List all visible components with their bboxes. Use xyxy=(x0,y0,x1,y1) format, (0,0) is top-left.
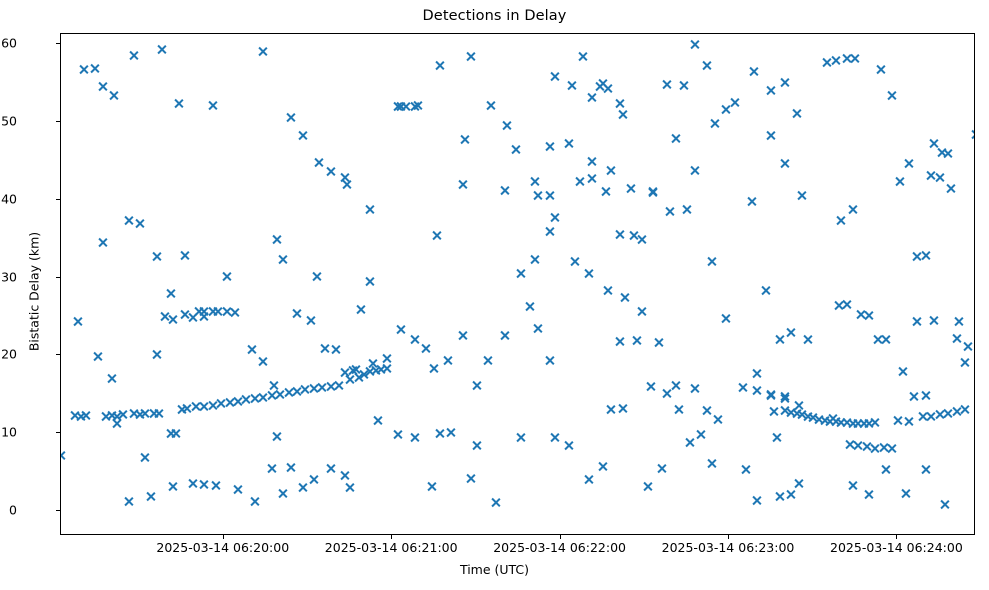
x-tick-mark xyxy=(728,535,729,539)
scatter-point xyxy=(954,316,965,327)
scatter-point xyxy=(173,98,184,109)
scatter-point xyxy=(670,133,681,144)
scatter-point xyxy=(221,306,232,317)
scatter-point xyxy=(297,130,308,141)
scatter-point xyxy=(409,101,420,112)
scatter-point xyxy=(286,462,297,473)
scatter-point xyxy=(168,314,179,325)
scatter-point xyxy=(92,351,103,362)
chart-title: Detections in Delay xyxy=(0,8,989,24)
scatter-point xyxy=(533,323,544,334)
scatter-point xyxy=(721,313,732,324)
scatter-point xyxy=(516,268,527,279)
scatter-point xyxy=(684,437,695,448)
scatter-point xyxy=(850,53,861,64)
scatter-point xyxy=(81,410,92,421)
scatter-point xyxy=(886,90,897,101)
scatter-point xyxy=(491,497,502,508)
scatter-point xyxy=(401,101,412,112)
scatter-point xyxy=(662,79,673,90)
scatter-point xyxy=(600,186,611,197)
scatter-point xyxy=(193,306,204,317)
scatter-point xyxy=(898,366,909,377)
scatter-point xyxy=(895,176,906,187)
scatter-point xyxy=(471,380,482,391)
scatter-point xyxy=(128,50,139,61)
y-tick-mark xyxy=(56,510,60,511)
x-tick-label: 2025-03-14 06:23:00 xyxy=(662,540,795,555)
scatter-point xyxy=(774,334,785,345)
x-tick-label: 2025-03-14 06:22:00 xyxy=(493,540,626,555)
scatter-point xyxy=(549,432,560,443)
scatter-point xyxy=(325,166,336,177)
scatter-point xyxy=(331,344,342,355)
scatter-point xyxy=(342,179,353,190)
scatter-point xyxy=(179,309,190,320)
scatter-point xyxy=(642,481,653,492)
scatter-point xyxy=(864,418,875,429)
scatter-point xyxy=(833,300,844,311)
scatter-point xyxy=(796,409,807,420)
scatter-point xyxy=(134,409,145,420)
scatter-point xyxy=(909,391,920,402)
scatter-point xyxy=(841,53,852,64)
scatter-point xyxy=(785,489,796,500)
scatter-point xyxy=(847,418,858,429)
scatter-point xyxy=(912,316,923,327)
scatter-point xyxy=(199,311,210,322)
scatter-point xyxy=(117,409,128,420)
scatter-point xyxy=(881,464,892,475)
scatter-point xyxy=(841,299,852,310)
scatter-point xyxy=(429,363,440,374)
scatter-point xyxy=(665,206,676,217)
scatter-point xyxy=(709,118,720,129)
y-tick-mark xyxy=(56,432,60,433)
scatter-point xyxy=(179,250,190,261)
scatter-point xyxy=(583,474,594,485)
scatter-point xyxy=(266,463,277,474)
scatter-point xyxy=(100,411,111,422)
scatter-point xyxy=(878,442,889,453)
scatter-point xyxy=(373,415,384,426)
scatter-point xyxy=(72,316,83,327)
scatter-point xyxy=(171,428,182,439)
scatter-point xyxy=(903,158,914,169)
scatter-point xyxy=(112,411,123,422)
scatter-point xyxy=(165,288,176,299)
scatter-point xyxy=(533,190,544,201)
scatter-point xyxy=(808,412,819,423)
scatter-point xyxy=(409,432,420,443)
scatter-point xyxy=(364,276,375,287)
scatter-point xyxy=(544,355,555,366)
scatter-point xyxy=(606,404,617,415)
scatter-point xyxy=(176,404,187,415)
scatter-point xyxy=(637,306,648,317)
scatter-point xyxy=(903,416,914,427)
scatter-point xyxy=(246,344,257,355)
scatter-point xyxy=(836,417,847,428)
scatter-point xyxy=(207,100,218,111)
x-tick-mark xyxy=(391,535,392,539)
scatter-point xyxy=(199,479,210,490)
scatter-point xyxy=(920,250,931,261)
scatter-point xyxy=(266,390,277,401)
scatter-point xyxy=(785,407,796,418)
scatter-point xyxy=(662,388,673,399)
scatter-point xyxy=(291,308,302,319)
scatter-point xyxy=(157,44,168,55)
scatter-point xyxy=(631,335,642,346)
scatter-point xyxy=(151,349,162,360)
y-tick-mark xyxy=(56,121,60,122)
scatter-point xyxy=(673,404,684,415)
scatter-point xyxy=(485,100,496,111)
scatter-point xyxy=(482,355,493,366)
scatter-point xyxy=(510,144,521,155)
scatter-point xyxy=(594,81,605,92)
scatter-point xyxy=(827,413,838,424)
scatter-point xyxy=(951,406,962,417)
scatter-point xyxy=(830,416,841,427)
scatter-point xyxy=(106,373,117,384)
scatter-point xyxy=(912,251,923,262)
scatter-point xyxy=(123,496,134,507)
scatter-point xyxy=(345,482,356,493)
scatter-point xyxy=(272,431,283,442)
scatter-point xyxy=(544,190,555,201)
y-tick-label: 30 xyxy=(1,269,17,284)
scatter-series-layer xyxy=(61,34,974,534)
scatter-point xyxy=(785,327,796,338)
scatter-point xyxy=(446,427,457,438)
scatter-point xyxy=(187,478,198,489)
scatter-point xyxy=(434,60,445,71)
scatter-point xyxy=(339,367,350,378)
scatter-point xyxy=(98,237,109,248)
scatter-point xyxy=(942,408,953,419)
y-tick-mark xyxy=(56,277,60,278)
scatter-point xyxy=(311,271,322,282)
scatter-point xyxy=(648,187,659,198)
scatter-point xyxy=(210,480,221,491)
scatter-point xyxy=(959,357,970,368)
matplotlib-figure: Detections in Delay 0102030405060 2025-0… xyxy=(0,0,989,590)
scatter-point xyxy=(148,408,159,419)
scatter-point xyxy=(822,57,833,68)
scatter-point xyxy=(420,343,431,354)
scatter-point xyxy=(381,363,392,374)
scatter-point xyxy=(333,380,344,391)
scatter-point xyxy=(215,398,226,409)
scatter-point xyxy=(701,405,712,416)
y-axis-label: Bistatic Delay (km) xyxy=(27,142,42,442)
scatter-point xyxy=(690,383,701,394)
scatter-point xyxy=(277,254,288,265)
scatter-point xyxy=(853,440,864,451)
scatter-point xyxy=(207,400,218,411)
scatter-point xyxy=(780,77,791,88)
scatter-point xyxy=(586,92,597,103)
y-tick-mark xyxy=(56,354,60,355)
scatter-point xyxy=(241,394,252,405)
scatter-point xyxy=(670,380,681,391)
scatter-point xyxy=(855,309,866,320)
scatter-point xyxy=(412,100,423,111)
scatter-point xyxy=(656,463,667,474)
scatter-point xyxy=(940,499,951,510)
scatter-point xyxy=(749,66,760,77)
scatter-point xyxy=(286,112,297,123)
scatter-point xyxy=(836,215,847,226)
scatter-point xyxy=(830,55,841,66)
scatter-point xyxy=(695,429,706,440)
scatter-point xyxy=(951,333,962,344)
scatter-point xyxy=(875,64,886,75)
scatter-point xyxy=(232,484,243,495)
scatter-point xyxy=(707,256,718,267)
y-tick-mark xyxy=(56,199,60,200)
scatter-point xyxy=(434,428,445,439)
scatter-point xyxy=(123,215,134,226)
x-tick-mark xyxy=(896,535,897,539)
scatter-point xyxy=(900,488,911,499)
scatter-point xyxy=(766,85,777,96)
scatter-point xyxy=(409,334,420,345)
scatter-point xyxy=(347,365,358,376)
scatter-point xyxy=(760,285,771,296)
scatter-point xyxy=(864,310,875,321)
scatter-point xyxy=(353,372,364,383)
y-tick-label: 20 xyxy=(1,347,17,362)
scatter-point xyxy=(159,311,170,322)
scatter-point xyxy=(460,134,471,145)
y-tick-label: 0 xyxy=(9,503,17,518)
scatter-point xyxy=(597,78,608,89)
scatter-point xyxy=(740,464,751,475)
scatter-point xyxy=(614,98,625,109)
y-tick-label: 60 xyxy=(1,36,17,51)
scatter-point xyxy=(364,204,375,215)
scatter-point xyxy=(471,440,482,451)
scatter-point xyxy=(140,452,151,463)
scatter-point xyxy=(426,481,437,492)
scatter-point xyxy=(297,482,308,493)
scatter-point xyxy=(813,414,824,425)
scatter-point xyxy=(258,46,269,57)
scatter-point xyxy=(752,495,763,506)
scatter-point xyxy=(586,173,597,184)
scatter-point xyxy=(325,381,336,392)
scatter-point xyxy=(319,343,330,354)
scatter-point xyxy=(60,450,67,461)
scatter-point xyxy=(140,408,151,419)
scatter-point xyxy=(766,130,777,141)
scatter-point xyxy=(926,170,937,181)
scatter-point xyxy=(325,463,336,474)
scatter-point xyxy=(881,334,892,345)
scatter-point xyxy=(128,408,139,419)
scatter-point xyxy=(367,358,378,369)
scatter-point xyxy=(886,443,897,454)
scatter-point xyxy=(578,51,589,62)
scatter-point xyxy=(345,374,356,385)
scatter-point xyxy=(603,83,614,94)
scatter-point xyxy=(721,104,732,115)
scatter-point xyxy=(869,443,880,454)
scatter-point xyxy=(499,330,510,341)
scatter-point xyxy=(277,488,288,499)
scatter-point xyxy=(712,414,723,425)
scatter-point xyxy=(971,129,976,140)
scatter-point xyxy=(305,315,316,326)
x-tick-mark xyxy=(560,535,561,539)
scatter-point xyxy=(221,271,232,282)
scatter-point xyxy=(791,108,802,119)
scatter-point xyxy=(199,306,210,317)
scatter-point xyxy=(628,230,639,241)
scatter-point xyxy=(154,408,165,419)
scatter-point xyxy=(645,381,656,392)
scatter-point xyxy=(258,356,269,367)
scatter-point xyxy=(395,101,406,112)
scatter-point xyxy=(75,411,86,422)
scatter-point xyxy=(926,411,937,422)
scatter-point xyxy=(249,393,260,404)
scatter-point xyxy=(375,364,386,375)
scatter-point xyxy=(928,138,939,149)
scatter-point xyxy=(530,254,541,265)
scatter-point xyxy=(729,97,740,108)
scatter-point xyxy=(937,147,948,158)
scatter-point xyxy=(791,408,802,419)
scatter-point xyxy=(432,230,443,241)
scatter-point xyxy=(224,397,235,408)
plot-axes xyxy=(60,33,975,535)
scatter-point xyxy=(392,101,403,112)
scatter-point xyxy=(516,432,527,443)
y-tick-label: 50 xyxy=(1,113,17,128)
scatter-point xyxy=(350,364,361,375)
scatter-point xyxy=(502,120,513,131)
scatter-point xyxy=(861,441,872,452)
scatter-point xyxy=(802,411,813,422)
scatter-point xyxy=(499,185,510,196)
scatter-point xyxy=(359,369,370,380)
scatter-point xyxy=(858,418,869,429)
scatter-point xyxy=(151,251,162,262)
scatter-point xyxy=(564,138,575,149)
scatter-point xyxy=(199,401,210,412)
scatter-point xyxy=(566,80,577,91)
scatter-point xyxy=(959,404,970,415)
scatter-point xyxy=(701,60,712,71)
scatter-point xyxy=(752,368,763,379)
scatter-point xyxy=(187,312,198,323)
scatter-point xyxy=(679,80,690,91)
scatter-point xyxy=(544,141,555,152)
scatter-point xyxy=(934,172,945,183)
scatter-point xyxy=(620,292,631,303)
scatter-point xyxy=(300,384,311,395)
scatter-point xyxy=(847,204,858,215)
scatter-point xyxy=(381,353,392,364)
scatter-point xyxy=(653,337,664,348)
scatter-point xyxy=(864,489,875,500)
scatter-point xyxy=(370,365,381,376)
scatter-point xyxy=(356,304,367,315)
scatter-point xyxy=(841,417,852,428)
scatter-point xyxy=(614,336,625,347)
y-tick-label: 40 xyxy=(1,191,17,206)
scatter-point xyxy=(575,176,586,187)
scatter-point xyxy=(443,355,454,366)
scatter-point xyxy=(768,406,779,417)
scatter-point xyxy=(738,382,749,393)
scatter-point xyxy=(465,473,476,484)
scatter-point xyxy=(317,382,328,393)
scatter-point xyxy=(112,418,123,429)
scatter-point xyxy=(457,179,468,190)
scatter-point xyxy=(920,390,931,401)
scatter-point xyxy=(145,491,156,502)
scatter-point xyxy=(283,387,294,398)
scatter-point xyxy=(606,165,617,176)
scatter-point xyxy=(258,392,269,403)
scatter-point xyxy=(794,400,805,411)
scatter-point xyxy=(614,229,625,240)
scatter-point xyxy=(269,380,280,391)
scatter-point xyxy=(392,429,403,440)
scatter-point xyxy=(917,411,928,422)
scatter-point xyxy=(771,432,782,443)
scatter-point xyxy=(766,390,777,401)
x-axis-label: Time (UTC) xyxy=(0,562,989,577)
scatter-point xyxy=(780,158,791,169)
scatter-point xyxy=(597,461,608,472)
x-tick-label: 2025-03-14 06:20:00 xyxy=(156,540,289,555)
scatter-point xyxy=(89,63,100,74)
scatter-point xyxy=(272,234,283,245)
scatter-point xyxy=(690,39,701,50)
scatter-point xyxy=(802,334,813,345)
scatter-point xyxy=(134,218,145,229)
scatter-point xyxy=(796,190,807,201)
y-tick-label: 10 xyxy=(1,425,17,440)
scatter-point xyxy=(934,409,945,420)
scatter-point xyxy=(232,396,243,407)
scatter-point xyxy=(549,212,560,223)
scatter-point xyxy=(928,315,939,326)
scatter-point xyxy=(457,330,468,341)
x-tick-label: 2025-03-14 06:21:00 xyxy=(325,540,458,555)
scatter-point xyxy=(274,389,285,400)
scatter-point xyxy=(230,307,241,318)
scatter-point xyxy=(766,389,777,400)
scatter-point xyxy=(314,157,325,168)
scatter-point xyxy=(844,439,855,450)
scatter-point xyxy=(207,306,218,317)
scatter-point xyxy=(690,165,701,176)
scatter-point xyxy=(395,324,406,335)
scatter-point xyxy=(569,256,580,267)
scatter-point xyxy=(106,410,117,421)
scatter-point xyxy=(819,415,830,426)
scatter-point xyxy=(746,196,757,207)
scatter-point xyxy=(681,204,692,215)
scatter-point xyxy=(945,183,956,194)
